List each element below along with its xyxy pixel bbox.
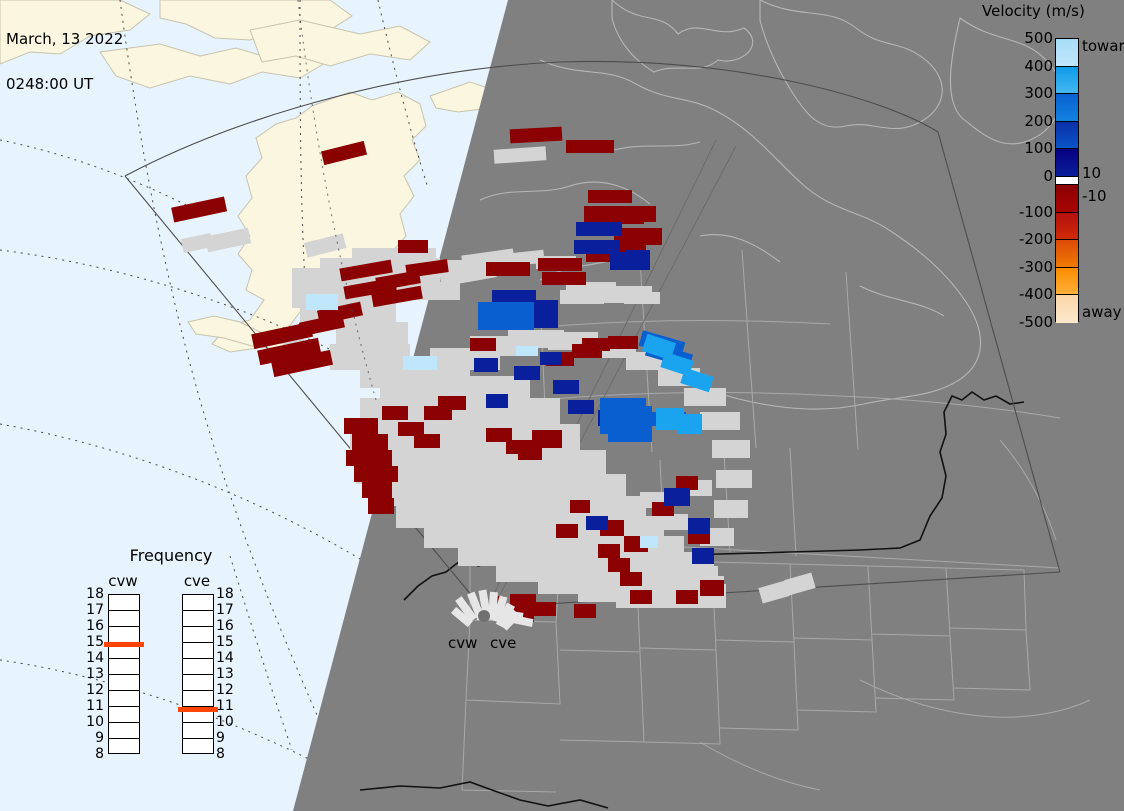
frequency-legend: Frequency cvw 18171615141312111098 cve 1… xyxy=(86,546,256,786)
colorbar-band xyxy=(1056,149,1078,177)
frequency-cell xyxy=(109,659,139,675)
colorbar-toward-label: toward xyxy=(1082,37,1124,55)
frequency-cell xyxy=(183,643,213,659)
frequency-marker xyxy=(178,707,218,712)
frequency-cell xyxy=(109,611,139,627)
colorbar-zero-lower-label: -10 xyxy=(1082,187,1107,205)
colorbar-zero-upper-label: 10 xyxy=(1082,164,1101,182)
timestamp: March, 13 2022 0248:00 UT xyxy=(6,2,123,122)
radar-site-label: cve xyxy=(490,634,516,652)
frequency-cell xyxy=(109,627,139,643)
frequency-cell xyxy=(183,691,213,707)
colorbar-band xyxy=(1056,213,1078,241)
frequency-marker xyxy=(104,642,144,647)
frequency-tick-label: 8 xyxy=(95,746,104,762)
frequency-tick-label: 15 xyxy=(86,634,104,650)
colorbar-tick: -500 xyxy=(1019,313,1053,331)
frequency-tick-label: 17 xyxy=(216,602,234,618)
frequency-cell xyxy=(109,707,139,723)
frequency-cell xyxy=(109,675,139,691)
frequency-tick-label: 10 xyxy=(86,714,104,730)
colorbar-tick: 200 xyxy=(1024,112,1053,130)
colorbar-tick: -200 xyxy=(1019,230,1053,248)
colorbar-tick: -100 xyxy=(1019,203,1053,221)
colorbar-band xyxy=(1056,185,1078,213)
frequency-tick-label: 14 xyxy=(86,650,104,666)
colorbar-band xyxy=(1056,39,1078,67)
colorbar-band xyxy=(1056,67,1078,95)
colorbar-tick: 0 xyxy=(1043,167,1053,185)
frequency-tick-label: 15 xyxy=(216,634,234,650)
colorbar-tick: 400 xyxy=(1024,57,1053,75)
colorbar-tick: 100 xyxy=(1024,139,1053,157)
colorbar-title: Velocity (m/s) xyxy=(982,2,1124,20)
colorbar-band xyxy=(1056,122,1078,150)
frequency-cell xyxy=(109,691,139,707)
frequency-tick-label: 11 xyxy=(86,698,104,714)
frequency-scale-box xyxy=(108,594,140,754)
frequency-cell xyxy=(183,659,213,675)
colorbar-gradient-bar xyxy=(1055,38,1079,322)
frequency-tick-label: 13 xyxy=(86,666,104,682)
timestamp-date: March, 13 2022 xyxy=(6,32,123,47)
colorbar-tick: -300 xyxy=(1019,258,1053,276)
colorbar-band xyxy=(1056,295,1078,323)
colorbar-band xyxy=(1056,94,1078,122)
frequency-tick-label: 8 xyxy=(216,746,225,762)
colorbar-band xyxy=(1056,240,1078,268)
frequency-scale-box xyxy=(182,594,214,754)
frequency-tick-label: 16 xyxy=(86,618,104,634)
colorbar-band xyxy=(1056,177,1078,185)
frequency-tick-label: 9 xyxy=(216,730,225,746)
frequency-tick-label: 11 xyxy=(216,698,234,714)
colorbar-tick: -400 xyxy=(1019,285,1053,303)
frequency-cell xyxy=(183,627,213,643)
frequency-title: Frequency xyxy=(86,546,256,565)
frequency-cell xyxy=(183,675,213,691)
frequency-tick-label: 12 xyxy=(86,682,104,698)
frequency-tick-label: 9 xyxy=(95,730,104,746)
frequency-cell xyxy=(183,739,213,755)
frequency-cell xyxy=(183,723,213,739)
velocity-colorbar: Velocity (m/s) 5004003002001000-100-200-… xyxy=(982,0,1124,340)
frequency-tick-label: 17 xyxy=(86,602,104,618)
frequency-cell xyxy=(109,739,139,755)
colorbar-band xyxy=(1056,268,1078,296)
frequency-cell xyxy=(183,595,213,611)
frequency-tick-label: 16 xyxy=(216,618,234,634)
colorbar-tick: 300 xyxy=(1024,84,1053,102)
frequency-tick-label: 12 xyxy=(216,682,234,698)
frequency-tick-label: 10 xyxy=(216,714,234,730)
colorbar-tick: 500 xyxy=(1024,29,1053,47)
timestamp-time: 0248:00 UT xyxy=(6,77,123,92)
frequency-tick-label: 18 xyxy=(86,586,104,602)
frequency-cell xyxy=(109,723,139,739)
frequency-tick-label: 14 xyxy=(216,650,234,666)
frequency-cell xyxy=(109,595,139,611)
colorbar-away-label: away xyxy=(1082,303,1122,321)
frequency-tick-label: 18 xyxy=(216,586,234,602)
radar-site-label: cvw xyxy=(448,634,477,652)
frequency-tick-label: 13 xyxy=(216,666,234,682)
frequency-cell xyxy=(183,611,213,627)
radar-site-dot xyxy=(478,610,490,622)
